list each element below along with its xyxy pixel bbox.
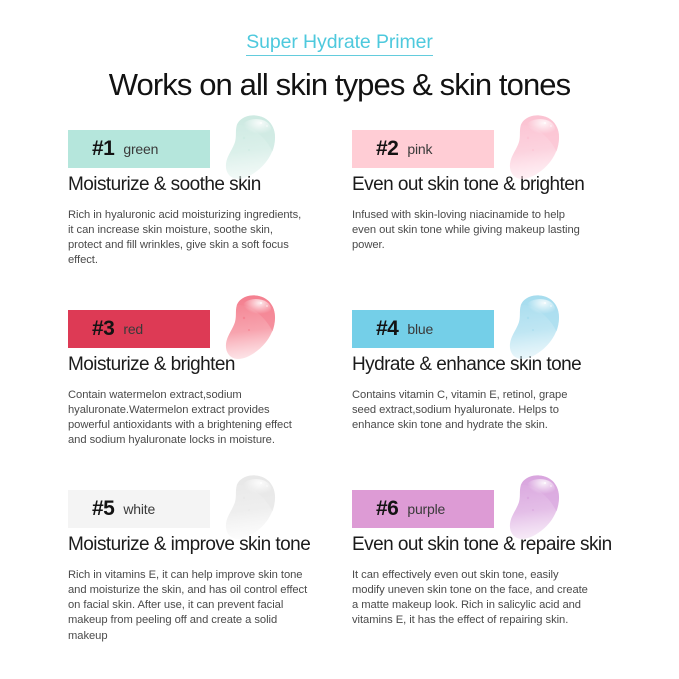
swatch-row: #5white xyxy=(68,472,352,530)
benefit-card: #2pinkEven out skin tone & brightenInfus… xyxy=(352,112,636,292)
benefit-card: #5whiteMoisturize & improve skin toneRic… xyxy=(68,472,352,652)
swatch-number: #4 xyxy=(376,317,398,341)
card-heading: Moisturize & improve skin tone xyxy=(68,534,352,557)
swatch-number: #5 xyxy=(92,497,114,521)
product-subtitle: Super Hydrate Primer xyxy=(246,31,433,56)
card-heading: Moisturize & brighten xyxy=(68,354,352,377)
swatch-color-name: blue xyxy=(407,321,433,337)
swatch-row: #4blue xyxy=(352,292,636,350)
swatch-row: #6purple xyxy=(352,472,636,530)
page-title: Works on all skin types & skin tones xyxy=(0,68,679,103)
benefit-card: #4blueHydrate & enhance skin toneContain… xyxy=(352,292,636,472)
swatch-color-name: red xyxy=(123,321,143,337)
benefit-card: #3redMoisturize & brightenContain waterm… xyxy=(68,292,352,472)
card-description: Infused with skin-loving niacinamide to … xyxy=(352,208,592,254)
card-heading: Even out skin tone & repaire skin xyxy=(352,534,636,557)
color-swatch-bar[interactable]: #5white xyxy=(68,490,210,528)
color-swatch-bar[interactable]: #6purple xyxy=(352,490,494,528)
card-description: Contains vitamin C, vitamin E, retinol, … xyxy=(352,388,592,434)
color-swatch-bar[interactable]: #1green xyxy=(68,130,210,168)
swatch-number: #6 xyxy=(376,497,398,521)
benefit-card: #1greenMoisturize & soothe skinRich in h… xyxy=(68,112,352,292)
color-swatch-bar[interactable]: #3red xyxy=(68,310,210,348)
swatch-color-name: green xyxy=(123,141,158,157)
card-heading: Even out skin tone & brighten xyxy=(352,174,636,197)
color-swatch-bar[interactable]: #2pink xyxy=(352,130,494,168)
swatch-color-name: purple xyxy=(407,501,445,517)
card-heading: Moisturize & soothe skin xyxy=(68,174,352,197)
swatch-color-name: white xyxy=(123,501,155,517)
header: Super Hydrate Primer Works on all skin t… xyxy=(0,0,679,103)
benefit-card-grid: #1greenMoisturize & soothe skinRich in h… xyxy=(0,112,679,652)
card-description: Contain watermelon extract,sodium hyalur… xyxy=(68,388,308,449)
swatch-number: #1 xyxy=(92,137,114,161)
card-description: Rich in hyaluronic acid moisturizing ing… xyxy=(68,208,308,269)
benefit-card: #6purpleEven out skin tone & repaire ski… xyxy=(352,472,636,652)
infographic-page: Super Hydrate Primer Works on all skin t… xyxy=(0,0,679,679)
swatch-row: #3red xyxy=(68,292,352,350)
card-description: Rich in vitamins E, it can help improve … xyxy=(68,568,308,644)
swatch-row: #1green xyxy=(68,112,352,170)
swatch-number: #3 xyxy=(92,317,114,341)
swatch-row: #2pink xyxy=(352,112,636,170)
card-heading: Hydrate & enhance skin tone xyxy=(352,354,636,377)
card-description: It can effectively even out skin tone, e… xyxy=(352,568,592,629)
swatch-color-name: pink xyxy=(407,141,432,157)
swatch-number: #2 xyxy=(376,137,398,161)
color-swatch-bar[interactable]: #4blue xyxy=(352,310,494,348)
